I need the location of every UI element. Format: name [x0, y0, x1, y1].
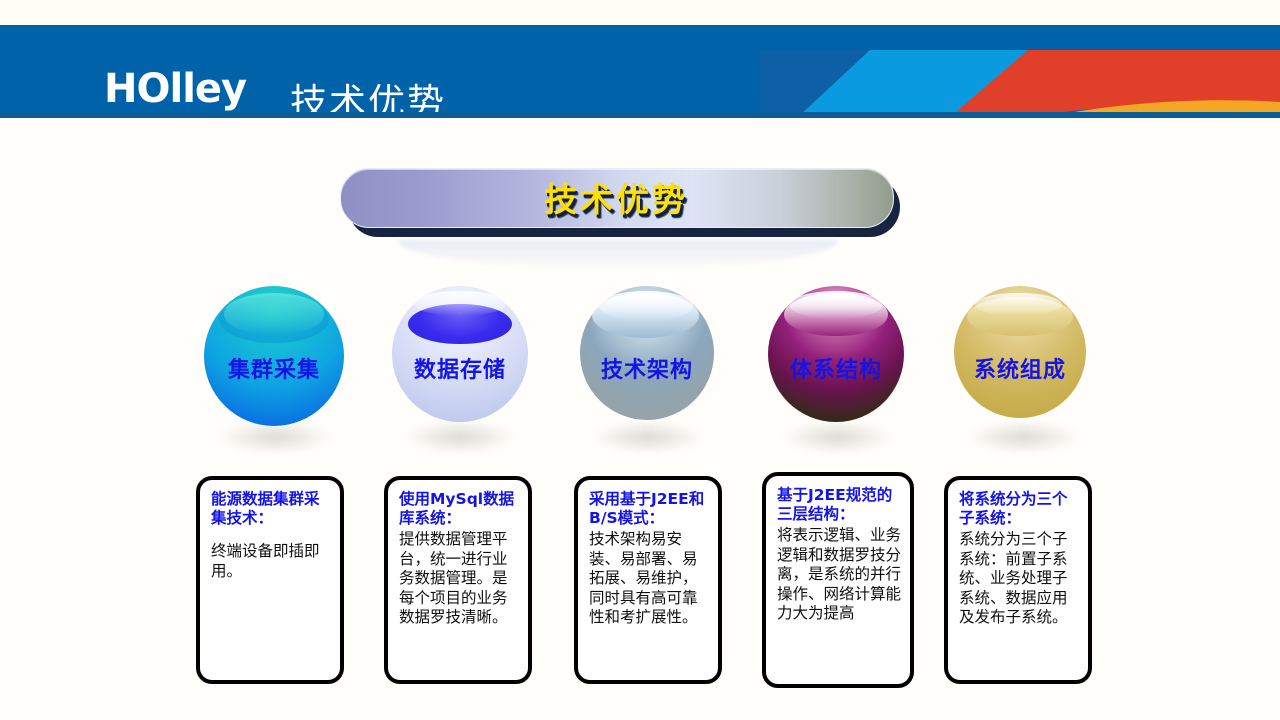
sphere-label-system-composition: 系统组成	[954, 352, 1086, 384]
sphere-gloss	[414, 291, 506, 315]
header-bottom-white	[0, 118, 1280, 126]
sphere-gloss	[599, 291, 693, 320]
info-box-body: 终端设备即插即用。	[211, 542, 331, 581]
swoosh-svg	[760, 50, 1280, 115]
sphere-label-data-storage: 数据存储	[392, 352, 528, 384]
slide-canvas: HOlley TECH 华立科技 技术优势 技术优势 集群采集 数据存储 技术架…	[0, 0, 1280, 720]
banner-reflection	[398, 240, 838, 270]
company-logo: HOlley TECH 华立科技	[104, 69, 274, 115]
info-box-heading: 使用MySql数据库系统：	[399, 490, 519, 528]
sphere-label-system-structure: 体系结构	[768, 352, 904, 384]
info-box-tech-architecture[interactable]: 采用基于J2EE和B/S模式： 技术架构易安装、易部署、易拓展、易维护，同时具有…	[574, 476, 722, 684]
info-box-heading: 采用基于J2EE和B/S模式：	[589, 490, 709, 528]
sphere-shadow	[968, 420, 1080, 454]
sphere-shadow	[592, 420, 704, 454]
sphere-label-tech-architecture: 技术架构	[580, 352, 714, 384]
info-box-body: 将表示逻辑、业务逻辑和数据罗技分离，是系统的并行操作、网络计算能力大为提高	[777, 526, 901, 624]
logo-wordmark: HOlley	[104, 69, 274, 109]
info-box-heading: 基于J2EE规范的三层结构：	[777, 486, 901, 524]
sphere-shadow	[782, 420, 894, 454]
header-swoosh-decoration	[760, 50, 1280, 115]
section-title-banner: 技术优势	[340, 168, 900, 230]
sphere-gloss	[224, 293, 325, 335]
info-box-data-storage[interactable]: 使用MySql数据库系统： 提供数据管理平台，统一进行业务数据管理。是每个项目的…	[384, 476, 532, 684]
info-box-system-composition[interactable]: 将系统分为三个子系统： 系统分为三个子系统：前置子系统、业务处理子系统、数据应用…	[944, 476, 1092, 684]
sphere-gloss	[790, 291, 882, 318]
sphere-label-cluster-collection: 集群采集	[204, 352, 344, 384]
info-box-heading: 能源数据集群采集技术：	[211, 490, 331, 528]
header-title: 技术优势	[290, 72, 446, 115]
info-box-body: 提供数据管理平台，统一进行业务数据管理。是每个项目的业务数据罗技清晰。	[399, 530, 519, 628]
info-box-system-structure[interactable]: 基于J2EE规范的三层结构： 将表示逻辑、业务逻辑和数据罗技分离，是系统的并行操…	[762, 472, 914, 688]
info-box-body: 系统分为三个子系统：前置子系统、业务处理子系统、数据应用及发布子系统。	[959, 530, 1079, 628]
info-box-body: 技术架构易安装、易部署、易拓展、易维护，同时具有高可靠性和考扩展性。	[589, 530, 709, 628]
top-white-strip	[0, 0, 1280, 25]
info-box-cluster-collection[interactable]: 能源数据集群采集技术： 终端设备即插即用。	[196, 476, 344, 684]
banner-title-text: 技术优势	[340, 168, 892, 226]
info-box-heading: 将系统分为三个子系统：	[959, 490, 1079, 528]
sphere-shadow	[404, 420, 516, 454]
header-bar: HOlley TECH 华立科技 技术优势	[0, 25, 1280, 115]
